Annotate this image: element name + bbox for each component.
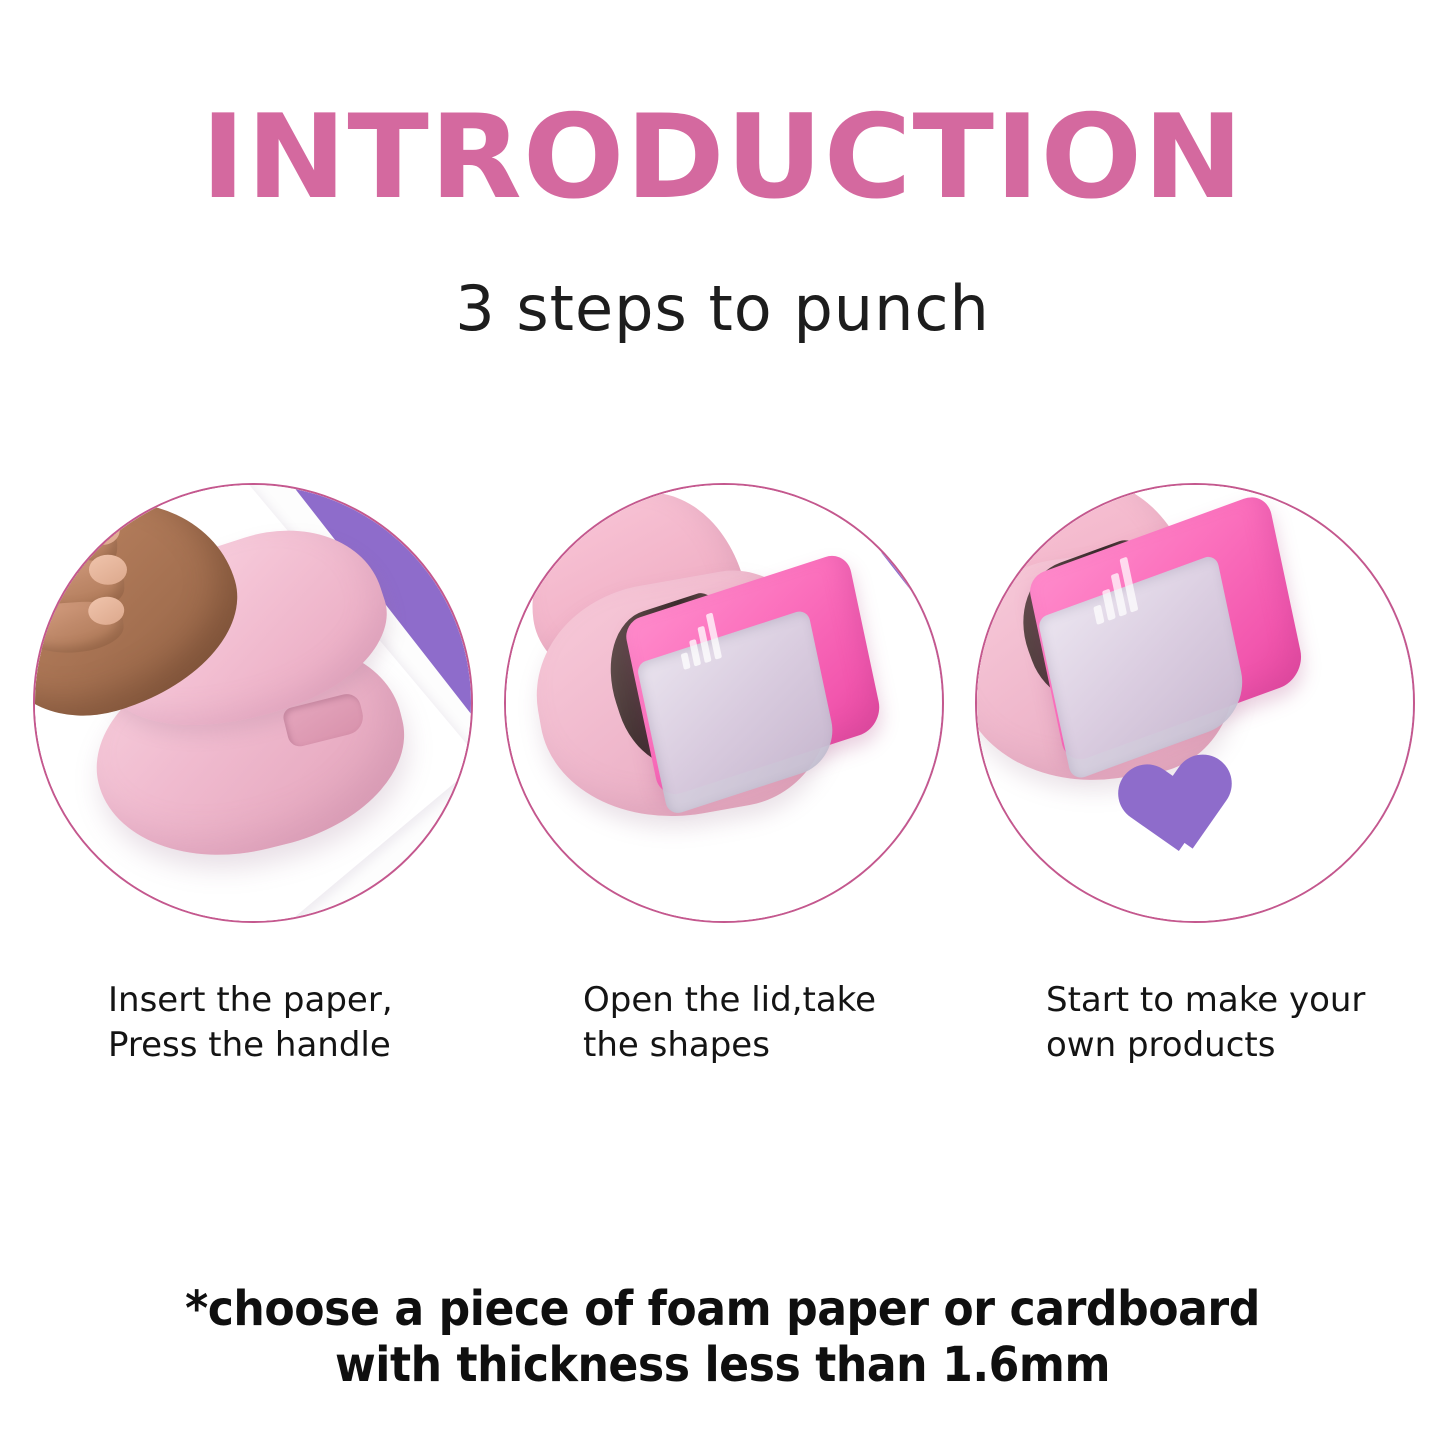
step-3-photo	[975, 483, 1415, 923]
step-3-scene	[977, 485, 1413, 921]
footnote-line-2: with thickness less than 1.6mm	[58, 1338, 1387, 1394]
step-1-caption: Insert the paper, Press the handle	[108, 978, 508, 1068]
page-subtitle: 3 steps to punch	[0, 278, 1445, 340]
infographic-page: INTRODUCTION 3 steps to punch	[0, 0, 1445, 1445]
caption-line-2: own products	[1046, 1023, 1445, 1068]
caption-line-2: Press the handle	[108, 1023, 508, 1068]
footnote-line-1: *choose a piece of foam paper or cardboa…	[185, 1281, 1260, 1337]
fingernail	[89, 555, 127, 585]
step-1-scene	[35, 485, 471, 921]
footnote: *choose a piece of foam paper or cardboa…	[58, 1282, 1387, 1393]
step-2-caption: Open the lid,take the shapes	[583, 978, 983, 1068]
caption-line-1: Start to make your	[1046, 980, 1365, 1020]
steps-photo-row	[0, 483, 1445, 948]
page-title: INTRODUCTION	[0, 100, 1445, 216]
step-2-scene	[506, 485, 942, 921]
purple-heart-cutout	[1120, 755, 1229, 856]
caption-line-1: Insert the paper,	[108, 980, 393, 1020]
caption-line-2: the shapes	[583, 1023, 983, 1068]
step-1-photo	[33, 483, 473, 923]
caption-line-1: Open the lid,take	[583, 980, 876, 1020]
step-3-caption: Start to make your own products	[1046, 978, 1445, 1068]
step-2-photo	[504, 483, 944, 923]
